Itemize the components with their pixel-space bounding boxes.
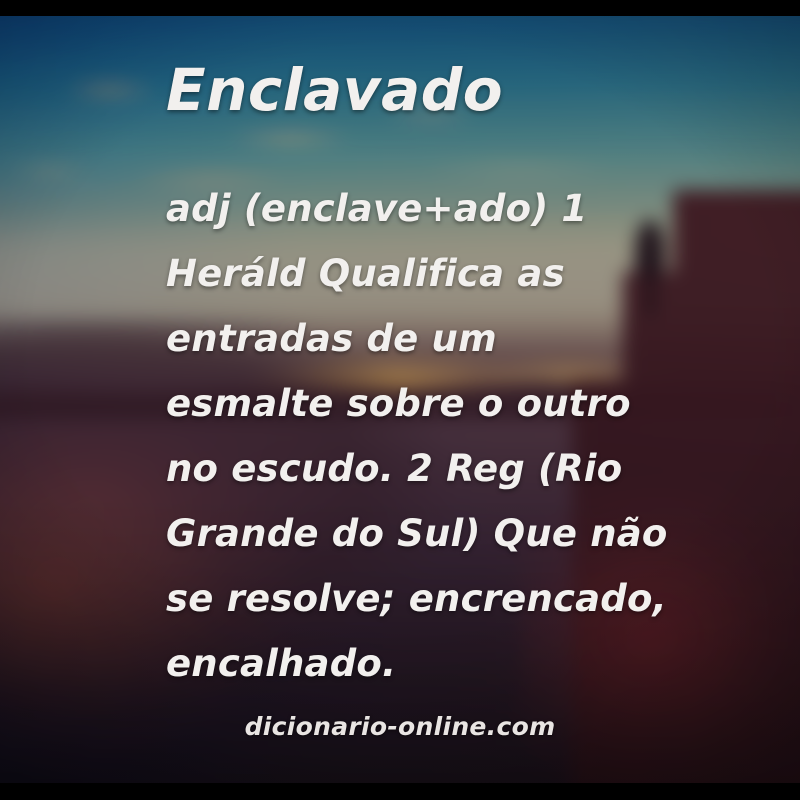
site-credit: dicionario-online.com <box>0 712 800 741</box>
definition-text: adj (enclave+ado) 1 Heráld Qualifica as … <box>166 176 676 696</box>
dictionary-definition-card: Enclavado adj (enclave+ado) 1 Heráld Qua… <box>0 0 800 800</box>
letterbox-bar-top <box>0 0 800 16</box>
headword-title: Enclavado <box>166 58 503 122</box>
text-content: Enclavado adj (enclave+ado) 1 Heráld Qua… <box>0 0 800 800</box>
letterbox-bar-bottom <box>0 783 800 800</box>
